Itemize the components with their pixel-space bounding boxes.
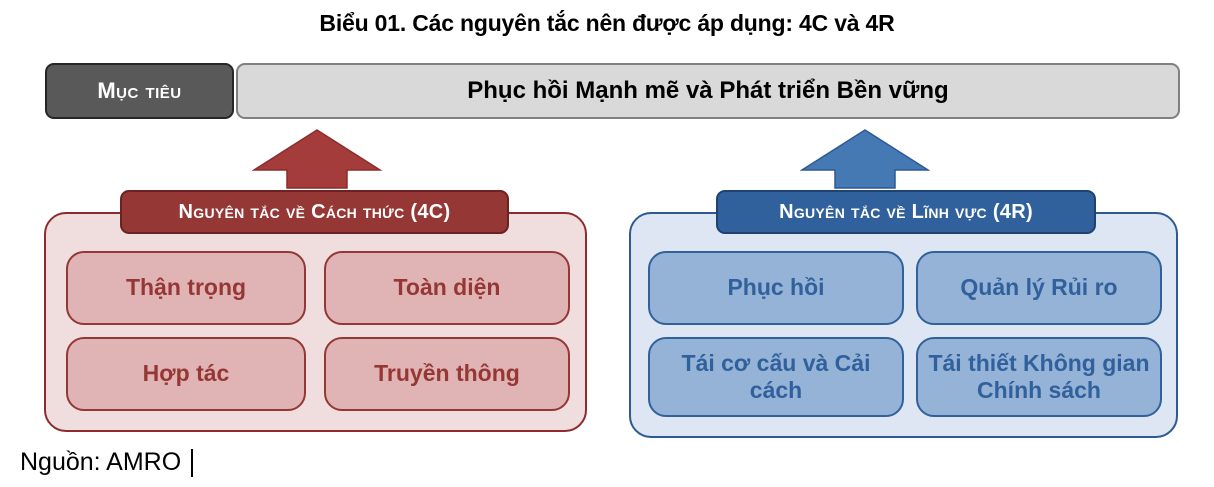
group-item-4c-1: Thận trọng [66,251,306,325]
group-item-4c-2: Toàn diện [324,251,570,325]
group-item-4c-4: Truyền thông [324,337,570,411]
objective-row: Mục tiêu Phục hồi Mạnh mẽ và Phát triển … [45,63,1180,119]
group-item-4c-3: Hợp tác [66,337,306,411]
source-text: Nguồn: AMRO [20,448,181,477]
page-title: Biểu 01. Các nguyên tắc nên được áp dụng… [0,10,1214,37]
text-cursor-caret [191,449,193,477]
group-header-4r: Nguyên tắc về Lĩnh vực (4R) [716,190,1096,234]
up-arrow-4c-icon [252,128,382,190]
group-header-4c: Nguyên tắc về Cách thức (4C) [120,190,509,234]
group-item-4r-4: Tái thiết Không gian Chính sách [916,337,1162,417]
source-note: Nguồn: AMRO [20,448,193,477]
objective-value: Phục hồi Mạnh mẽ và Phát triển Bền vững [236,63,1180,119]
group-item-4r-1: Phục hồi [648,251,904,325]
group-item-4r-2: Quản lý Rủi ro [916,251,1162,325]
up-arrow-4r-icon [800,128,930,190]
objective-label: Mục tiêu [45,63,234,119]
group-item-4r-3: Tái cơ cấu và Cải cách [648,337,904,417]
